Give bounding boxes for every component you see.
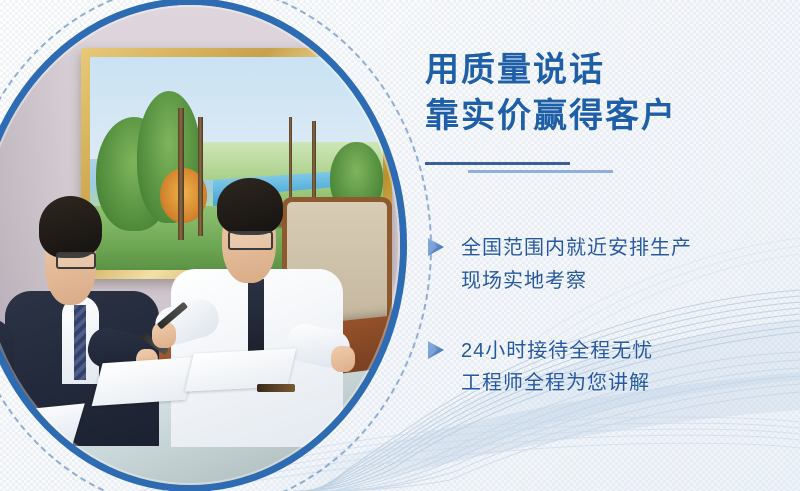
eyeglasses <box>228 231 273 250</box>
divider-line-top <box>425 162 570 165</box>
painting-tree <box>137 91 201 223</box>
pen <box>157 302 189 330</box>
painting-tree <box>330 142 383 214</box>
feature-bullet-1-line-2: 现场实地考察 <box>461 265 800 297</box>
pen-on-table <box>257 384 295 392</box>
photo-circle <box>0 5 400 485</box>
feature-bullet-2: 24小时接待全程无忧 工程师全程为您讲解 <box>425 335 800 400</box>
feature-bullet-2-line-1: 24小时接待全程无忧 <box>461 335 800 367</box>
painting-canvas <box>90 57 383 269</box>
office-chair <box>282 197 391 341</box>
person-partial-left <box>0 245 14 437</box>
necktie <box>74 305 87 380</box>
hair <box>217 178 282 236</box>
contract-document <box>185 348 296 392</box>
painting-boat <box>254 212 321 227</box>
painting-frame <box>81 48 392 278</box>
feature-bullet-2-line-2: 工程师全程为您讲解 <box>461 367 800 399</box>
dress-shirt <box>171 269 343 447</box>
office-signing-photo <box>0 5 400 485</box>
painting-trunk <box>289 117 293 206</box>
painting-river <box>213 168 383 235</box>
hand <box>331 346 355 372</box>
painting-sky <box>90 57 383 159</box>
feature-bullet-2-text: 24小时接待全程无忧 工程师全程为您讲解 <box>461 335 800 400</box>
contract-document <box>91 357 196 407</box>
painting-far-bank <box>242 183 383 221</box>
person-client <box>14 216 157 437</box>
hand <box>152 322 176 348</box>
headline-line-2: 靠实价赢得客户 <box>425 96 800 136</box>
painting-trunk <box>198 117 203 236</box>
banner-content: 用质量说话 靠实价赢得客户 全国范围内就近安排生产 <box>425 0 800 491</box>
play-arrow-icon <box>425 339 447 361</box>
promo-banner: 用质量说话 靠实价赢得客户 全国范围内就近安排生产 <box>0 0 800 491</box>
hand <box>136 349 157 375</box>
painting-trunk <box>178 108 184 240</box>
photo-frame <box>0 5 400 485</box>
painting-field <box>201 142 383 180</box>
divider <box>425 162 800 174</box>
feature-bullet-1-text: 全国范围内就近安排生产 现场实地考察 <box>461 232 800 297</box>
play-arrow-icon <box>425 236 447 258</box>
wall-shadow <box>0 5 89 351</box>
dress-shirt <box>62 296 99 384</box>
painting-tree <box>96 117 172 232</box>
head <box>45 216 96 304</box>
arm <box>84 324 155 378</box>
arm <box>151 295 223 349</box>
hair <box>39 196 102 258</box>
painting-near-bank <box>90 206 383 270</box>
feature-bullet-1-line-1: 全国范围内就近安排生产 <box>461 232 800 264</box>
painting-trunk <box>312 121 316 206</box>
divider-line-bottom <box>468 170 613 173</box>
necktie <box>248 279 264 361</box>
painting-autumn-tree <box>160 168 207 223</box>
head <box>222 197 276 283</box>
eyeglasses <box>56 252 96 270</box>
headline-line-1: 用质量说话 <box>425 50 800 90</box>
person-representative <box>177 197 337 437</box>
arm <box>283 320 353 371</box>
feature-bullet-1: 全国范围内就近安排生产 现场实地考察 <box>425 232 800 297</box>
pen <box>140 331 169 355</box>
